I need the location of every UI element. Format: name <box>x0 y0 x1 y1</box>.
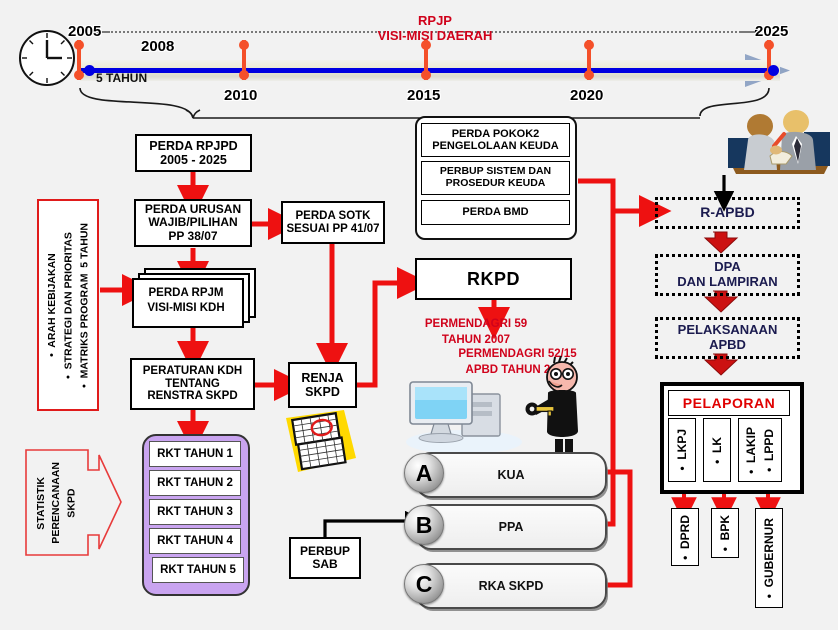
timeline-tick-2020 <box>584 40 595 80</box>
shape-statistik-label: STATISTIK PERENCANAAN SKPD <box>34 462 80 544</box>
box-rkpd[interactable]: RKPD <box>415 258 572 300</box>
rkt-item-3[interactable]: RKT TAHUN 3 <box>149 499 241 525</box>
marker-a-icon[interactable]: A <box>404 453 444 493</box>
dest-cell-bpk[interactable]: • BPK <box>711 508 739 558</box>
dest-cell-gubernur[interactable]: • GUBERNUR <box>755 508 783 608</box>
marker-b-icon[interactable]: B <box>404 505 444 545</box>
computer-icon <box>400 372 525 457</box>
marker-c-icon[interactable]: C <box>404 564 444 604</box>
pelaporan-cell-lkpj[interactable]: • LKPJ <box>668 418 696 482</box>
diagram-canvas: 2005 2008 2010 2015 2020 2025 5 TAHUN RP… <box>0 0 838 630</box>
marker-a-label: A <box>416 460 433 487</box>
box-dpa[interactable]: DPA DAN LAMPIRAN <box>655 254 800 296</box>
rkt-item-1[interactable]: RKT TAHUN 1 <box>149 441 241 467</box>
timeline-tick-2015 <box>421 40 432 80</box>
pelaporan-cell-lakip-lppd[interactable]: • LAKIP • LPPD <box>738 418 782 482</box>
box-renja-skpd[interactable]: RENJA SKPD <box>288 362 357 408</box>
row-ppa-label: PPA <box>499 520 524 534</box>
pelaporan-cell-lk-label: • LK <box>710 437 724 464</box>
pelaporan-cell-lk[interactable]: • LK <box>703 418 731 482</box>
pelaporan-title: PELAPORAN <box>668 390 790 416</box>
rkt-item-2[interactable]: RKT TAHUN 2 <box>149 470 241 496</box>
dest-cell-dprd[interactable]: • DPRD <box>671 508 699 566</box>
marker-c-label: C <box>416 571 433 598</box>
timeline-tick-2005 <box>74 40 85 80</box>
box-arah-kebijakan-label: • ARAH KEBIJAKAN • STRATEGI DAN PRIORITA… <box>44 223 93 388</box>
box-perda-rpjm-stack[interactable]: PERDA RPJM VISI-MISI KDH <box>132 268 256 324</box>
dest-cell-gubernur-label: • GUBERNUR <box>762 518 776 598</box>
box-perda-pokok2[interactable]: PERDA POKOK2 PENGELOLAAN KEUDA <box>421 123 570 157</box>
timeline-year-2015: 2015 <box>407 87 440 104</box>
box-r-apbd[interactable]: R-APBD <box>655 197 800 229</box>
row-kua-label: KUA <box>497 468 524 482</box>
pelaporan-cell-lkpj-label: • LKPJ <box>675 429 689 471</box>
timeline-year-2008: 2008 <box>141 38 174 55</box>
timeline-end-dot <box>768 65 779 76</box>
box-perda-urusan[interactable]: PERDA URUSAN WAJIB/PILIHAN PP 38/07 <box>134 199 252 247</box>
box-pelaksanaan-apbd[interactable]: PELAKSANAAN APBD <box>655 317 800 359</box>
person-with-key-icon <box>518 355 596 455</box>
marker-b-label: B <box>416 512 433 539</box>
rpjp-title-line2: VISI-MISI DAERAH <box>350 28 520 43</box>
timeline-year-2010: 2010 <box>224 87 257 104</box>
box-perbup-sab[interactable]: PERBUP SAB <box>289 537 361 579</box>
timeline-start-dot <box>84 65 95 76</box>
meeting-people-icon <box>712 104 838 180</box>
timeline-year-2025: 2025 <box>755 23 788 40</box>
permendagri-note-1: PERMENDAGRI 59 TAHUN 2007 <box>396 317 556 348</box>
box-perda-bmd[interactable]: PERDA BMD <box>421 200 570 225</box>
timeline-5tahun-label: 5 TAHUN <box>96 71 147 85</box>
dest-cell-dprd-label: • DPRD <box>678 515 692 560</box>
box-perbup-sistem[interactable]: PERBUP SISTEM DAN PROSEDUR KEUDA <box>421 161 570 195</box>
pelaporan-cell-lakip-lppd-label: • LAKIP • LPPD <box>742 427 778 474</box>
rkt-item-4[interactable]: RKT TAHUN 4 <box>149 528 241 554</box>
row-rka-skpd-label: RKA SKPD <box>479 579 544 593</box>
box-peraturan-kdh[interactable]: PERATURAN KDH TENTANG RENSTRA SKPD <box>130 358 255 410</box>
rpjp-title-line1: RPJP <box>370 13 500 28</box>
timeline-year-2020: 2020 <box>570 87 603 104</box>
timeline-year-2005: 2005 <box>68 23 101 40</box>
timeline-tick-2010 <box>239 40 250 80</box>
box-perda-rpjpd[interactable]: PERDA RPJPD 2005 - 2025 <box>135 134 252 172</box>
box-perda-sotk[interactable]: PERDA SOTK SESUAI PP 41/07 <box>281 201 385 244</box>
rkt-item-5[interactable]: RKT TAHUN 5 <box>152 557 244 583</box>
dest-cell-bpk-label: • BPK <box>718 515 732 551</box>
shape-statistik-label-wrap: STATISTIK PERENCANAAN SKPD <box>26 450 88 555</box>
box-arah-kebijakan[interactable]: • ARAH KEBIJAKAN • STRATEGI DAN PRIORITA… <box>37 199 99 411</box>
box-perda-rpjm-label: PERDA RPJM VISI-MISI KDH <box>132 278 240 324</box>
calendar-icon <box>280 408 362 480</box>
